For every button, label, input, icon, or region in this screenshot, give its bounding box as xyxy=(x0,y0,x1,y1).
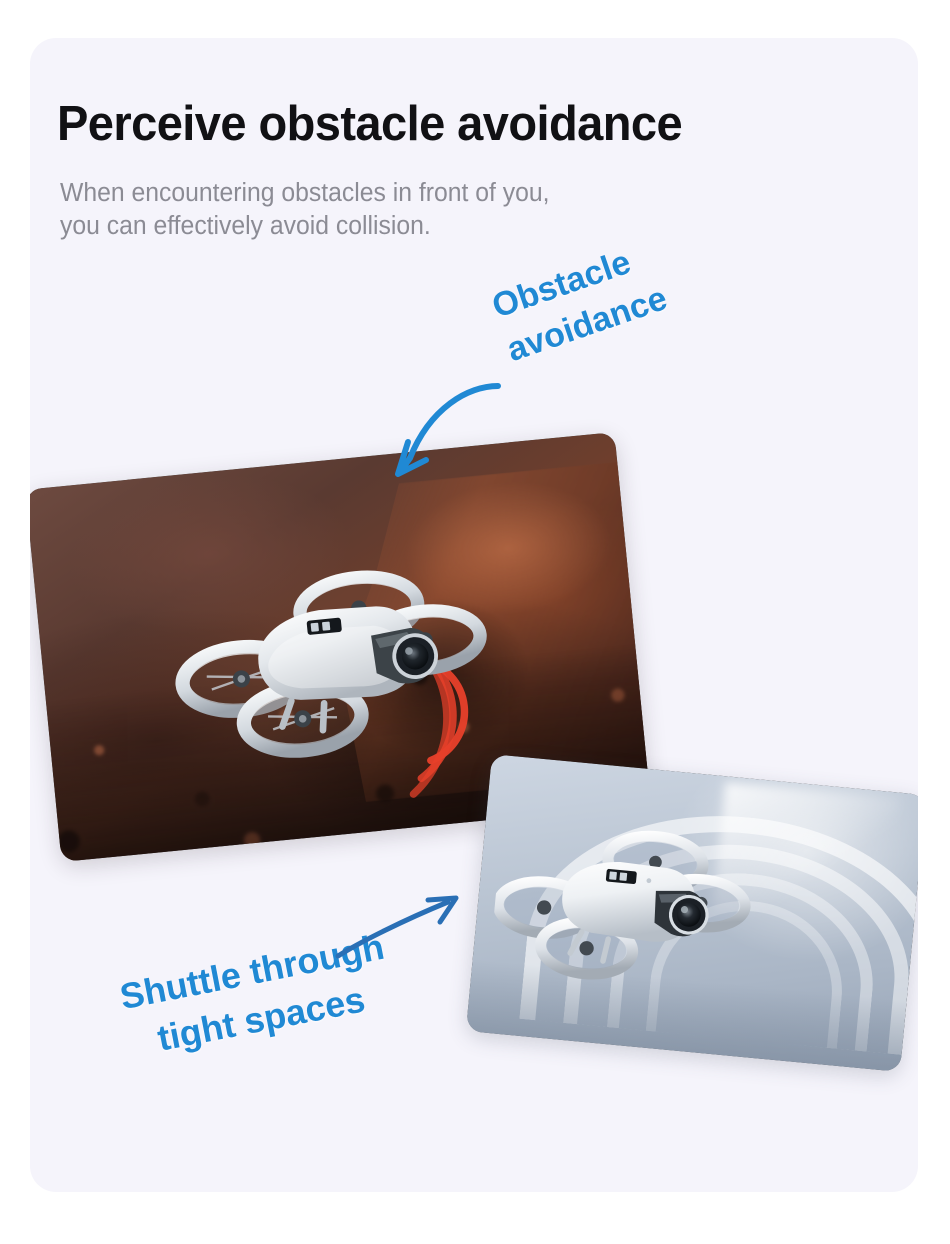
curved-arrow-down-left-icon xyxy=(386,372,506,482)
photo-tunnel xyxy=(466,754,918,1072)
page-title: Perceive obstacle avoidance xyxy=(57,96,682,152)
curved-arrow-up-right-icon xyxy=(332,884,462,964)
promo-card: Perceive obstacle avoidance When encount… xyxy=(30,38,918,1192)
page-subtitle: When encountering obstacles in front of … xyxy=(60,177,550,243)
drone-tunnel xyxy=(488,794,775,1008)
drone-rocky xyxy=(164,541,514,782)
annotation-obstacle-avoidance: Obstacle avoidance xyxy=(486,232,673,373)
